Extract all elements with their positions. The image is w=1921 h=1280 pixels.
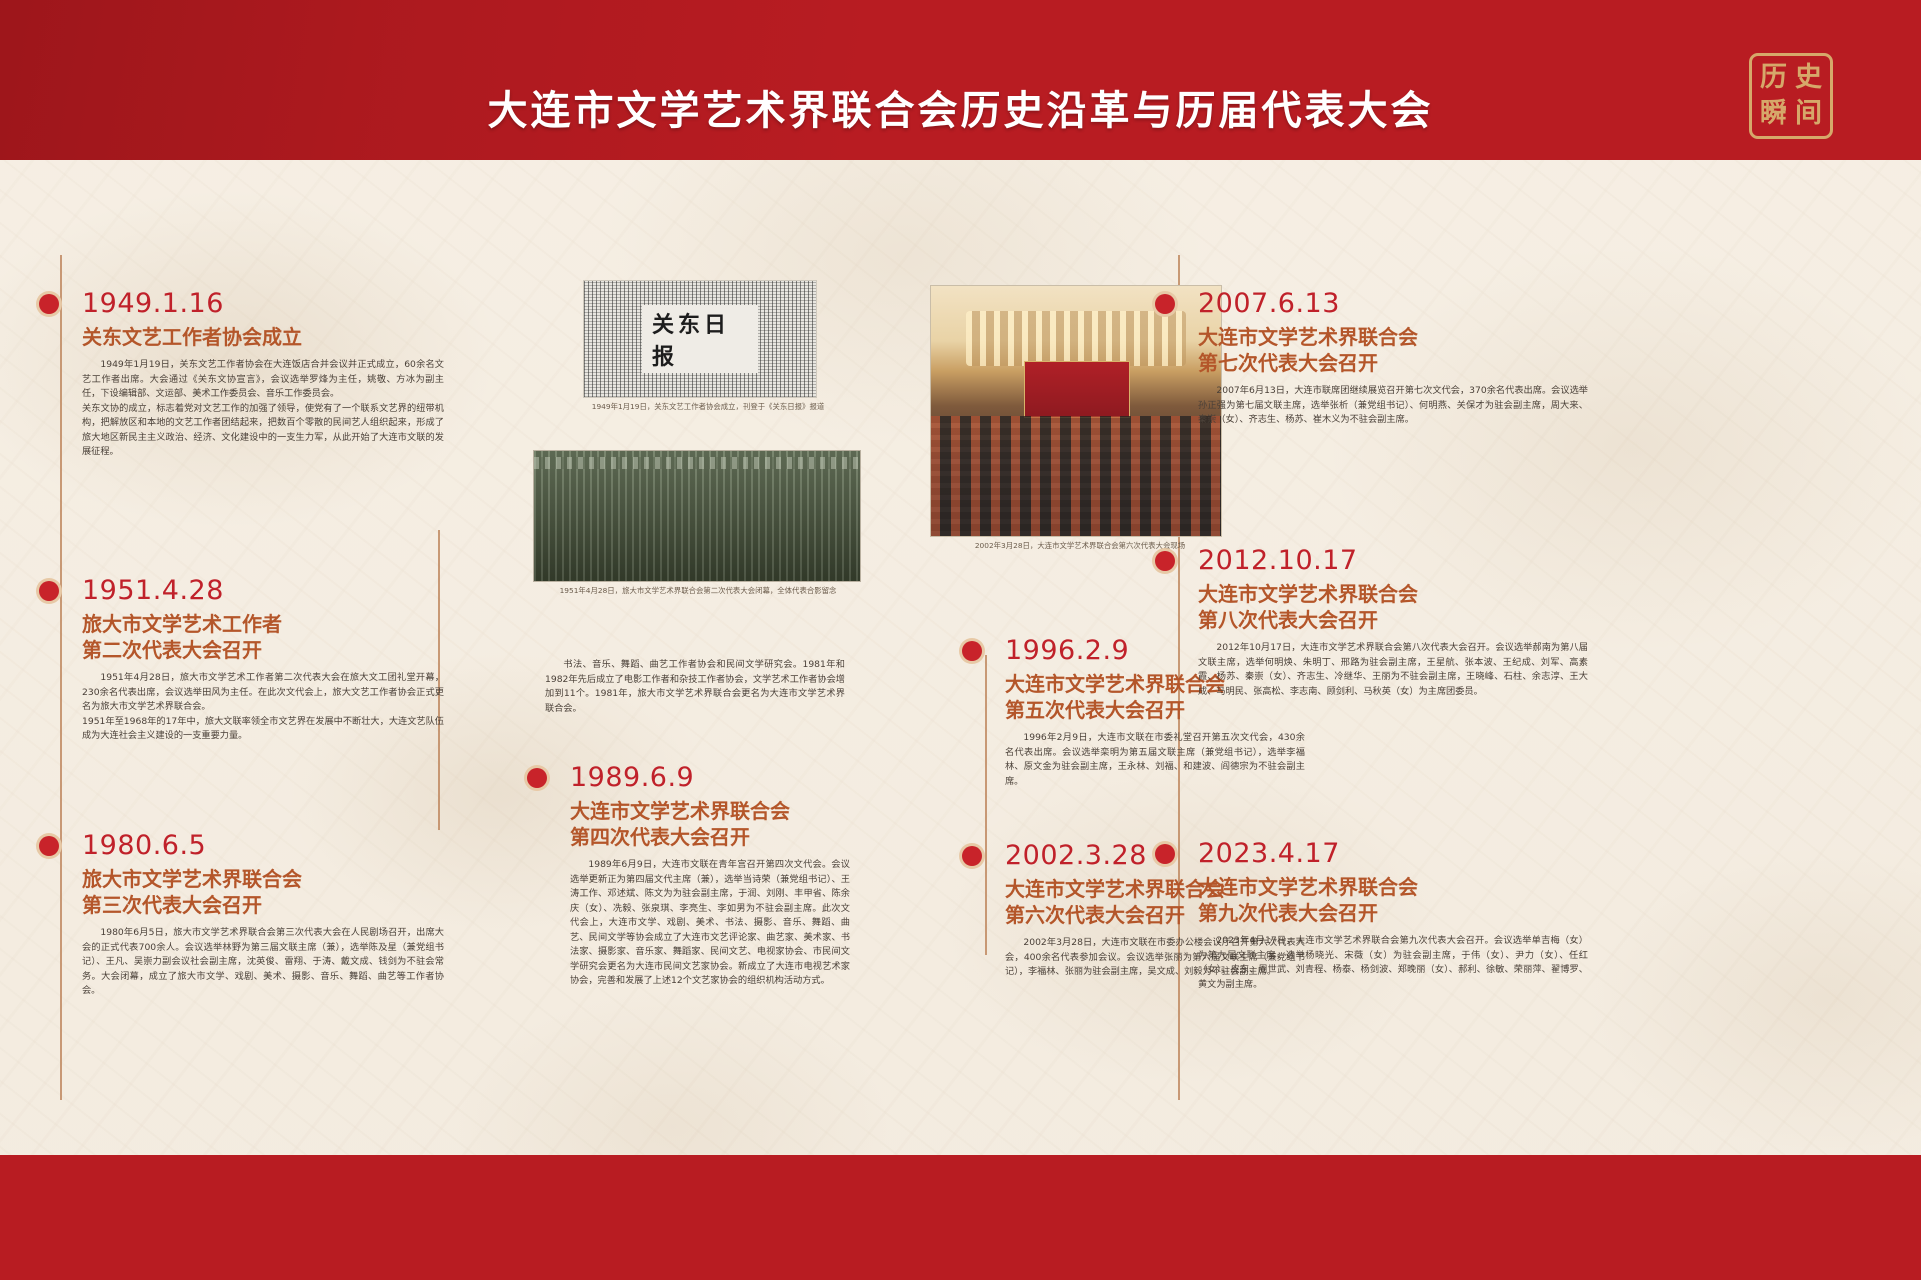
timeline-dot-icon bbox=[39, 294, 59, 314]
entry-body: 书法、音乐、舞蹈、曲艺工作者协会和民间文学研究会。1981年和1982年先后成立… bbox=[545, 658, 845, 716]
entry-body: 2007年6月13日，大连市联席团继续展览召开第七次文代会，370余名代表出席。… bbox=[1198, 384, 1588, 428]
entry-date: 1951.4.28 bbox=[82, 575, 444, 607]
seal-char-2: 史 bbox=[1791, 60, 1826, 96]
entry-body: 2012年10月17日，大连市文学艺术界联合会第八次代表大会召开。会议选举郝南为… bbox=[1198, 641, 1588, 699]
timeline-dot-icon bbox=[962, 846, 982, 866]
media-newspaper: 关东日报 1949年1月19日，关东文艺工作者协会成立，刊登于《关东日报》报道 bbox=[583, 280, 833, 412]
stage-backdrop bbox=[1024, 361, 1130, 418]
timeline-entry-1980[interactable]: 1980.6.5 旅大市文学艺术界联合会 第三次代表大会召开 1980年6月5日… bbox=[52, 830, 444, 999]
timeline-entry-1949[interactable]: 1949.1.16 关东文艺工作者协会成立 1949年1月19日，关东文艺工作者… bbox=[52, 288, 444, 460]
entry-body: 1951年4月28日，旅大市文学艺术工作者第二次代表大会在旅大文工团礼堂开幕，2… bbox=[82, 671, 444, 744]
media-group-photo: 1951年4月28日，旅大市文学艺术界联合会第二次代表大会闭幕，全体代表合影留念 bbox=[533, 450, 863, 596]
newspaper-masthead: 关东日报 bbox=[642, 305, 758, 373]
entry-subtitle: 旅大市文学艺术界联合会 第三次代表大会召开 bbox=[82, 866, 444, 918]
entry-body: 2023年4月17日，大连市文学艺术界联合会第九次代表大会召开。会议选举单吉梅（… bbox=[1198, 934, 1588, 992]
entry-date: 2012.10.17 bbox=[1198, 545, 1588, 577]
timeline-entry-2023[interactable]: 2023.4.17 大连市文学艺术界联合会 第九次代表大会召开 2023年4月1… bbox=[1168, 838, 1588, 992]
entry-subtitle: 大连市文学艺术界联合会 第七次代表大会召开 bbox=[1198, 324, 1588, 376]
media-caption: 1949年1月19日，关东文艺工作者协会成立，刊登于《关东日报》报道 bbox=[583, 401, 833, 412]
footer-band bbox=[0, 1155, 1921, 1280]
seal-char-3: 瞬 bbox=[1756, 96, 1791, 132]
timeline-dot-icon bbox=[39, 581, 59, 601]
seal-char-4: 间 bbox=[1791, 96, 1826, 132]
timeline-entry-1989[interactable]: 1989.6.9 大连市文学艺术界联合会 第四次代表大会召开 1989年6月9日… bbox=[540, 762, 850, 989]
timeline-dot-icon bbox=[1155, 844, 1175, 864]
entry-subtitle: 大连市文学艺术界联合会 第八次代表大会召开 bbox=[1198, 581, 1588, 633]
timeline-dot-icon bbox=[1155, 294, 1175, 314]
timeline-dot-icon bbox=[39, 836, 59, 856]
timeline-entry-2012[interactable]: 2012.10.17 大连市文学艺术界联合会 第八次代表大会召开 2012年10… bbox=[1168, 545, 1588, 699]
entry-date: 1980.6.5 bbox=[82, 830, 444, 862]
entry-date: 1949.1.16 bbox=[82, 288, 444, 320]
media-caption: 1951年4月28日，旅大市文学艺术界联合会第二次代表大会闭幕，全体代表合影留念 bbox=[533, 585, 863, 596]
entry-subtitle: 旅大市文学艺术工作者 第二次代表大会召开 bbox=[82, 611, 444, 663]
timeline-note-1981: 书法、音乐、舞蹈、曲艺工作者协会和民间文学研究会。1981年和1982年先后成立… bbox=[545, 658, 845, 716]
newspaper-image: 关东日报 bbox=[583, 280, 817, 398]
timeline-rail-mid-right bbox=[985, 655, 987, 955]
seal-logo: 历 史 瞬 间 bbox=[1749, 53, 1833, 139]
entry-body: 1996年2月9日，大连市文联在市委礼堂召开第五次文代会，430余名代表出席。会… bbox=[1005, 731, 1305, 789]
timeline-dot-icon bbox=[527, 768, 547, 788]
entry-body: 1989年6月9日，大连市文联在青年宫召开第四次文代会。会议选举更新正为第四届文… bbox=[570, 858, 850, 989]
entry-date: 1989.6.9 bbox=[570, 762, 850, 794]
entry-date: 2007.6.13 bbox=[1198, 288, 1588, 320]
timeline-dot-icon bbox=[962, 641, 982, 661]
entry-subtitle: 关东文艺工作者协会成立 bbox=[82, 324, 444, 350]
entry-subtitle: 大连市文学艺术界联合会 第九次代表大会召开 bbox=[1198, 874, 1588, 926]
group-photo-image bbox=[533, 450, 861, 582]
entry-date: 2023.4.17 bbox=[1198, 838, 1588, 870]
entry-subtitle: 大连市文学艺术界联合会 第四次代表大会召开 bbox=[570, 798, 850, 850]
timeline-entry-1951[interactable]: 1951.4.28 旅大市文学艺术工作者 第二次代表大会召开 1951年4月28… bbox=[52, 575, 444, 744]
timeline-dot-icon bbox=[1155, 551, 1175, 571]
timeline-entry-2007[interactable]: 2007.6.13 大连市文学艺术界联合会 第七次代表大会召开 2007年6月1… bbox=[1168, 288, 1588, 428]
poster-root: 大连市文学艺术界联合会历史沿革与历届代表大会 历 史 瞬 间 1949.1.16… bbox=[0, 0, 1921, 1280]
entry-body: 1949年1月19日，关东文艺工作者协会在大连饭店合并会议并正式成立，60余名文… bbox=[82, 358, 444, 460]
entry-body: 1980年6月5日，旅大市文学艺术界联合会第三次代表大会在人民剧场召开，出席大会… bbox=[82, 926, 444, 999]
page-title: 大连市文学艺术界联合会历史沿革与历届代表大会 bbox=[0, 78, 1921, 136]
seal-char-1: 历 bbox=[1756, 60, 1791, 96]
